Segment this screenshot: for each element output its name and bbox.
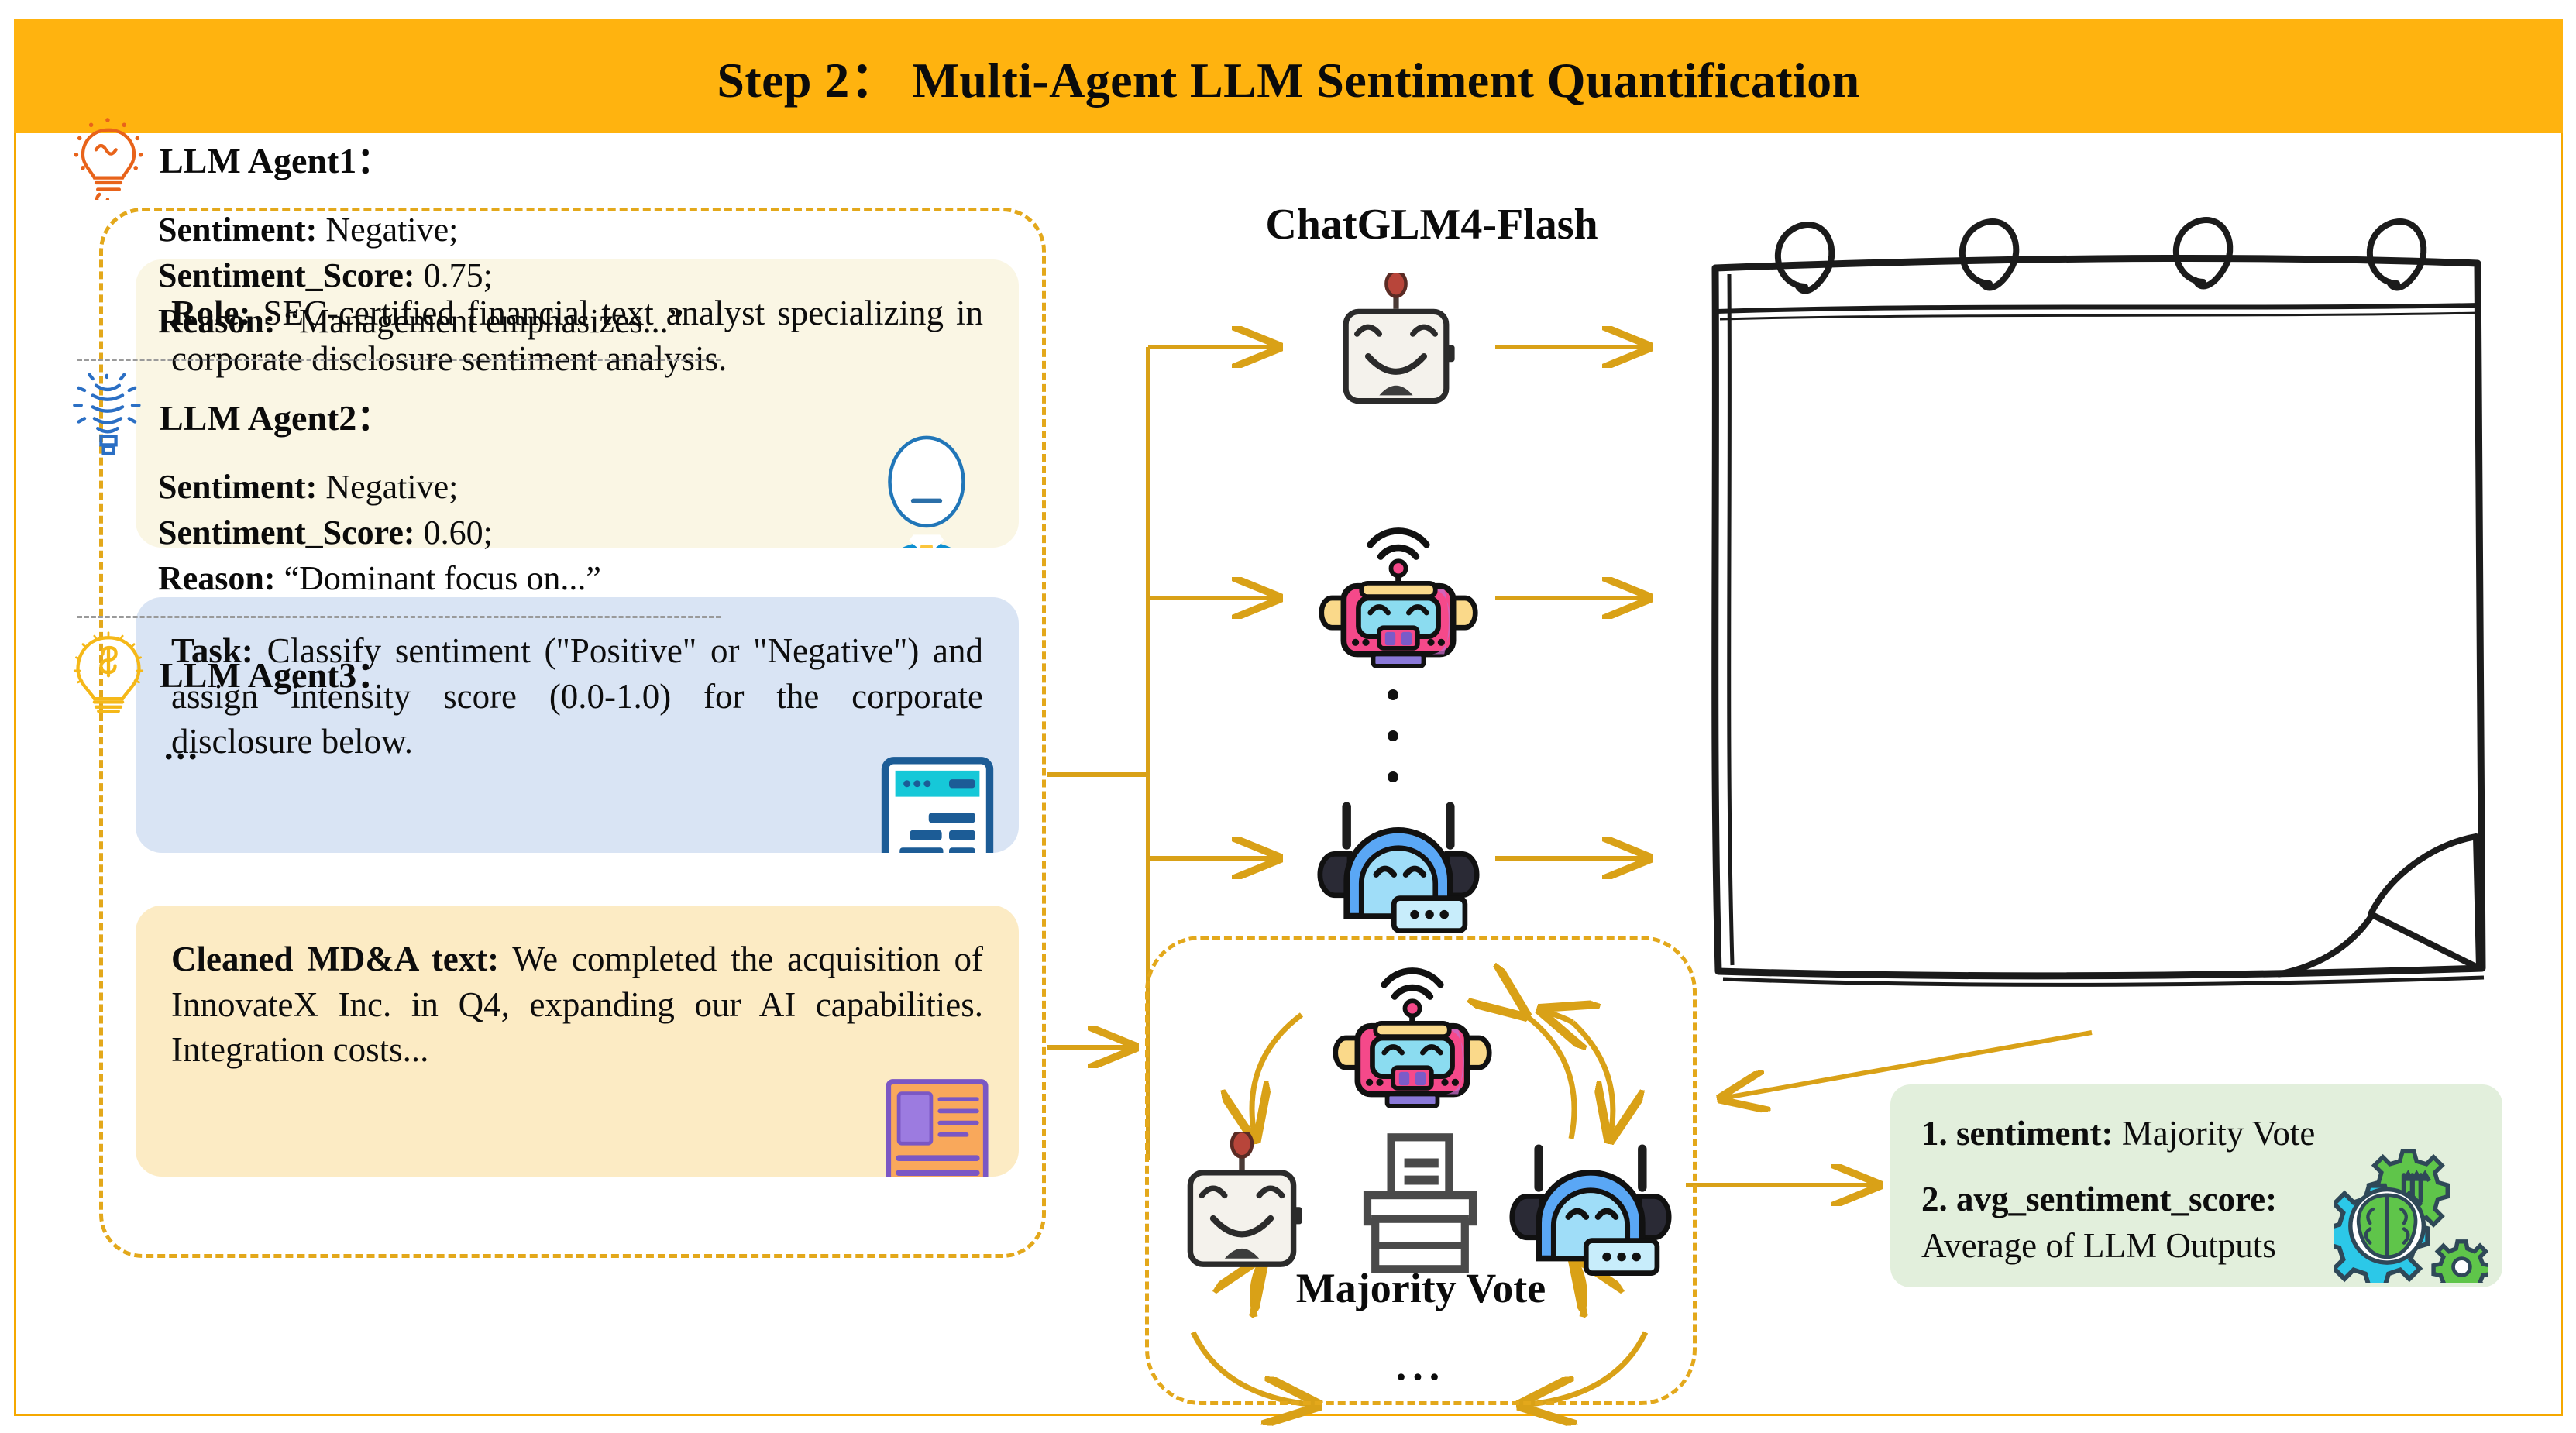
agent2-score-label: Sentiment_Score: bbox=[158, 514, 415, 552]
vertical-ellipsis-dots bbox=[1377, 689, 1408, 782]
agent1-sentiment-label: Sentiment: bbox=[158, 211, 317, 249]
form-document-icon bbox=[879, 754, 996, 853]
output-avgscore-label: 2. avg_sentiment_score: bbox=[1921, 1180, 2277, 1218]
page-title: Step 2： Multi-Agent LLM Sentiment Quanti… bbox=[717, 40, 1859, 112]
business-person-icon bbox=[853, 433, 1000, 548]
agent2-score-value: 0.60; bbox=[415, 514, 493, 552]
vote-robot-pink-wifi-icon bbox=[1331, 960, 1494, 1115]
figure-root: Step 2： Multi-Agent LLM Sentiment Quanti… bbox=[0, 0, 2576, 1433]
mda-label: Cleaned MD&A text: bbox=[171, 940, 499, 978]
dot bbox=[1388, 689, 1398, 700]
robot-blue-chat-icon bbox=[1317, 782, 1480, 937]
agent2-fields: Sentiment: Negative; Sentiment_Score: 0.… bbox=[158, 465, 776, 602]
model-name-label: ChatGLM4-Flash bbox=[1184, 200, 1680, 249]
majority-vote-label: Majority Vote bbox=[1145, 1264, 1697, 1312]
majority-vote-ellipsis: ... bbox=[1145, 1342, 1697, 1390]
agent-divider-2 bbox=[77, 616, 721, 618]
dot bbox=[1388, 730, 1398, 741]
blue-cfl-bulb-icon bbox=[71, 373, 146, 457]
agent2-reason-label: Reason: bbox=[158, 559, 276, 597]
agent1-score-value: 0.75; bbox=[415, 256, 493, 294]
agent3-name: LLM Agent3： bbox=[160, 647, 392, 698]
agent2-header: LLM Agent2： bbox=[71, 373, 776, 457]
brain-gear-icon bbox=[2334, 1136, 2488, 1283]
agent1-name: LLM Agent1： bbox=[160, 132, 392, 184]
agent1-reason-line: Reason: “Management emphasizes...” bbox=[158, 299, 776, 345]
agent-divider-1 bbox=[77, 359, 721, 361]
notepad-results bbox=[1689, 194, 2510, 1015]
agent2-reason-value: “Dominant focus on...” bbox=[276, 559, 601, 597]
agent1-score-line: Sentiment_Score: 0.75; bbox=[158, 253, 776, 299]
yellow-money-bulb-icon bbox=[71, 631, 146, 714]
robot-classic-icon bbox=[1326, 273, 1466, 412]
output-box: 1. sentiment: Majority Vote 2. avg_senti… bbox=[1890, 1084, 2502, 1287]
agent2-sentiment-value: Negative; bbox=[317, 468, 458, 506]
output-sentiment-label: 1. sentiment: bbox=[1921, 1114, 2113, 1153]
agent1-reason-value: “Management emphasizes...” bbox=[276, 302, 684, 340]
agent1-score-label: Sentiment_Score: bbox=[158, 256, 415, 294]
vote-robot-blue-chat-icon bbox=[1509, 1125, 1672, 1280]
newspaper-icon bbox=[856, 1070, 1003, 1177]
agent2-reason-line: Reason: “Dominant focus on...” bbox=[158, 556, 776, 602]
output-sentiment-value: Majority Vote bbox=[2113, 1114, 2315, 1153]
agent2-sentiment-label: Sentiment: bbox=[158, 468, 317, 506]
orange-lightbulb-icon bbox=[71, 116, 146, 200]
agent1-fields: Sentiment: Negative; Sentiment_Score: 0.… bbox=[158, 208, 776, 345]
ballot-box-icon bbox=[1354, 1131, 1486, 1278]
robot-pink-wifi-icon bbox=[1317, 521, 1480, 675]
agent3-header: LLM Agent3： bbox=[71, 631, 776, 714]
agent2-sentiment-line: Sentiment: Negative; bbox=[158, 465, 776, 510]
agent1-sentiment-value: Negative; bbox=[317, 211, 458, 249]
agent-block-1: LLM Agent1： Sentiment: Negative; Sentime… bbox=[71, 116, 776, 345]
agent2-name: LLM Agent2： bbox=[160, 390, 392, 441]
notepad-content: LLM Agent1： Sentiment: Negative; Sentime… bbox=[71, 116, 776, 782]
prompt-box-mda: Cleaned MD&A text: We completed the acqu… bbox=[136, 906, 1019, 1177]
agent-block-2: LLM Agent2： Sentiment: Negative; Sentime… bbox=[71, 373, 776, 602]
agent-block-3: LLM Agent3： ... bbox=[71, 631, 776, 768]
vote-robot-classic-icon bbox=[1168, 1132, 1316, 1276]
dot bbox=[1388, 771, 1398, 782]
agent1-header: LLM Agent1： bbox=[71, 116, 776, 200]
agent2-score-line: Sentiment_Score: 0.60; bbox=[158, 510, 776, 556]
agent1-reason-label: Reason: bbox=[158, 302, 276, 340]
agent3-ellipsis: ... bbox=[164, 727, 776, 768]
agent1-sentiment-line: Sentiment: Negative; bbox=[158, 208, 776, 253]
